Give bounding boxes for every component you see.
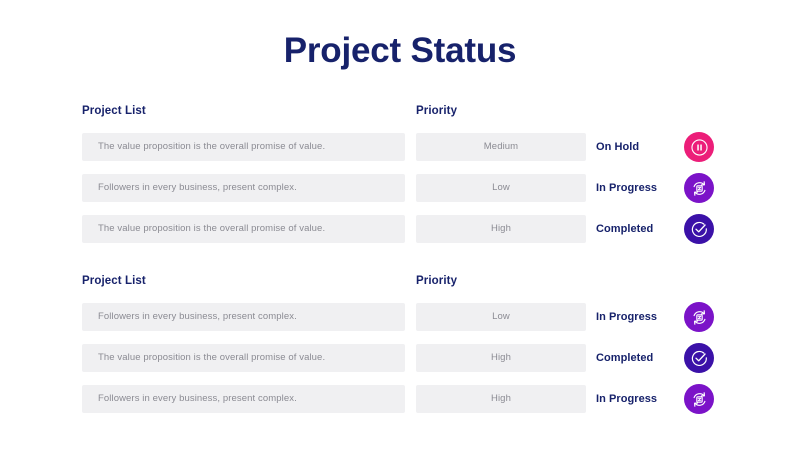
priority-cell[interactable]: High — [416, 385, 586, 413]
project-rows: The value proposition is the overall pro… — [82, 133, 722, 243]
table-row[interactable]: Followers in every business, present com… — [82, 385, 722, 413]
table-row[interactable]: The value proposition is the overall pro… — [82, 344, 722, 372]
column-header-priority: Priority — [416, 105, 457, 117]
status-group: Completed — [596, 344, 722, 372]
priority-cell[interactable]: High — [416, 344, 586, 372]
status-label: In Progress — [596, 182, 682, 194]
status-label: In Progress — [596, 393, 682, 405]
project-name-text: The value proposition is the overall pro… — [98, 352, 325, 364]
pause-icon — [690, 138, 709, 157]
status-group: On Hold — [596, 133, 722, 161]
status-label: In Progress — [596, 311, 682, 323]
status-label: Completed — [596, 352, 682, 364]
priority-text: High — [491, 393, 511, 405]
project-name-text: Followers in every business, present com… — [98, 182, 297, 194]
status-badge[interactable] — [684, 302, 714, 332]
priority-text: High — [491, 223, 511, 235]
project-name-cell[interactable]: Followers in every business, present com… — [82, 385, 405, 413]
status-badge[interactable] — [684, 343, 714, 373]
page-title: Project Status — [0, 30, 800, 72]
status-group: In Progress — [596, 303, 722, 331]
priority-text: Medium — [484, 141, 518, 153]
column-header-row: Project List Priority — [82, 105, 722, 125]
project-rows: Followers in every business, present com… — [82, 303, 722, 413]
status-group: In Progress — [596, 385, 722, 413]
progress-refresh-icon — [690, 390, 709, 409]
project-name-text: The value proposition is the overall pro… — [98, 141, 325, 153]
table-row[interactable]: The value proposition is the overall pro… — [82, 215, 722, 243]
priority-text: Low — [492, 311, 510, 323]
slide-canvas: Project Status Project List Priority The… — [0, 0, 800, 450]
project-status-section-2: Project List Priority Followers in every… — [82, 275, 722, 413]
status-label: Completed — [596, 223, 682, 235]
column-header-row: Project List Priority — [82, 275, 722, 295]
priority-cell[interactable]: Medium — [416, 133, 586, 161]
project-name-cell[interactable]: The value proposition is the overall pro… — [82, 133, 405, 161]
status-group: In Progress — [596, 174, 722, 202]
project-name-cell[interactable]: The value proposition is the overall pro… — [82, 215, 405, 243]
project-name-text: Followers in every business, present com… — [98, 311, 297, 323]
progress-refresh-icon — [690, 308, 709, 327]
status-label: On Hold — [596, 141, 682, 153]
priority-cell[interactable]: Low — [416, 303, 586, 331]
project-status-section-1: Project List Priority The value proposit… — [82, 105, 722, 243]
priority-cell[interactable]: Low — [416, 174, 586, 202]
priority-text: High — [491, 352, 511, 364]
column-header-project-list: Project List — [82, 275, 146, 287]
status-badge[interactable] — [684, 173, 714, 203]
table-row[interactable]: Followers in every business, present com… — [82, 174, 722, 202]
priority-cell[interactable]: High — [416, 215, 586, 243]
status-badge[interactable] — [684, 214, 714, 244]
project-name-text: The value proposition is the overall pro… — [98, 223, 325, 235]
column-header-project-list: Project List — [82, 105, 146, 117]
priority-text: Low — [492, 182, 510, 194]
project-name-cell[interactable]: Followers in every business, present com… — [82, 174, 405, 202]
table-row[interactable]: Followers in every business, present com… — [82, 303, 722, 331]
progress-refresh-icon — [690, 179, 709, 198]
column-header-priority: Priority — [416, 275, 457, 287]
status-badge[interactable] — [684, 384, 714, 414]
check-circle-icon — [690, 349, 709, 368]
check-circle-icon — [690, 220, 709, 239]
project-name-text: Followers in every business, present com… — [98, 393, 297, 405]
status-group: Completed — [596, 215, 722, 243]
table-row[interactable]: The value proposition is the overall pro… — [82, 133, 722, 161]
project-name-cell[interactable]: The value proposition is the overall pro… — [82, 344, 405, 372]
project-name-cell[interactable]: Followers in every business, present com… — [82, 303, 405, 331]
status-badge[interactable] — [684, 132, 714, 162]
